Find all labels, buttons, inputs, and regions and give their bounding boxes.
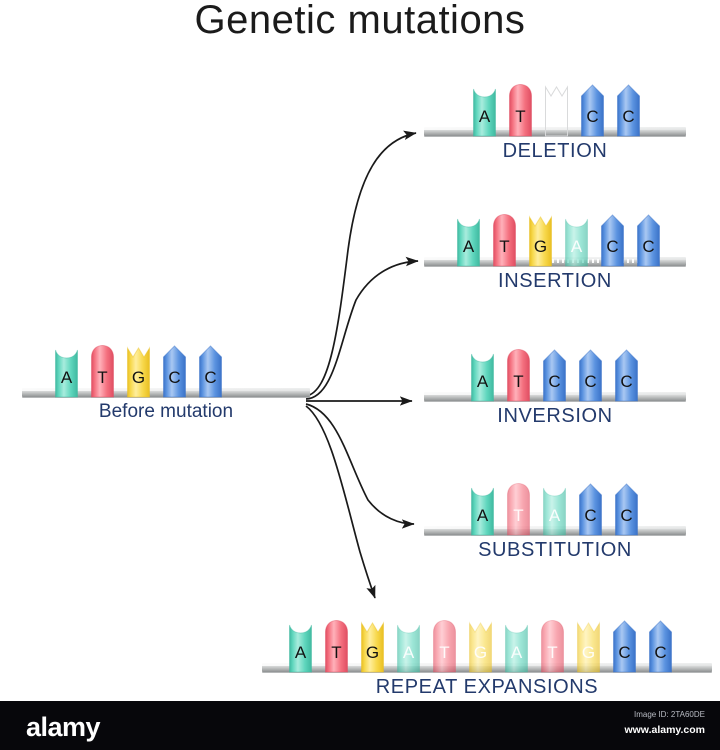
nucleotide-a: A [504, 619, 529, 672]
nucleotide-t: T [506, 348, 531, 401]
nucleotide-g: G [468, 619, 493, 672]
nucleotide-g: G [360, 619, 385, 672]
nucleotide-g: G [126, 344, 151, 397]
page-title: Genetic mutations [0, 0, 720, 43]
nucleotide-a: A [470, 348, 495, 401]
nucleotide-a: A [396, 619, 421, 672]
strand-insertion: ATGACCINSERTION [424, 204, 686, 266]
strand-deletion: ATGCCDELETION [424, 74, 686, 136]
caption-repeat-expansions: REPEAT EXPANSIONS [262, 676, 712, 699]
nucleotide-c: C [636, 213, 661, 266]
nucleotide-a: A [54, 344, 79, 397]
caption-insertion: INSERTION [424, 270, 686, 293]
caption-inversion: INVERSION [424, 405, 686, 428]
strand-inversion: ATCCCINVERSION [424, 339, 686, 401]
nucleotide-c: C [616, 83, 641, 136]
caption-deletion: DELETION [424, 140, 686, 163]
strand-before-mutation: ATGCCBefore mutation [22, 335, 310, 397]
nucleotide-c: C [614, 482, 639, 535]
nucleotide-c: C [198, 344, 223, 397]
nucleotide-g: G [528, 213, 553, 266]
nucleotide-g: G [544, 83, 569, 136]
illustration-canvas: Genetic mutations ATGCCBefore mutationAT… [0, 0, 720, 750]
alamy-logo: alamy [26, 712, 100, 743]
nucleotide-t: T [540, 619, 565, 672]
caption-substitution: SUBSTITUTION [424, 539, 686, 562]
arrow-to-deletion [306, 133, 416, 396]
nucleotide-a: A [470, 482, 495, 535]
nucleotide-c: C [162, 344, 187, 397]
nucleotide-c: C [614, 348, 639, 401]
nucleotide-c: C [542, 348, 567, 401]
alamy-url: www.alamy.com [525, 724, 705, 736]
caption-before-mutation: Before mutation [22, 401, 310, 423]
nucleotide-t: T [324, 619, 349, 672]
image-id-label: Image ID: 2TA60DE [525, 710, 705, 719]
nucleotide-a: A [542, 482, 567, 535]
nucleotide-c: C [580, 83, 605, 136]
nucleotide-a: A [564, 213, 589, 266]
nucleotide-t: T [508, 83, 533, 136]
watermark-bar: alamy Image ID: 2TA60DE www.alamy.com [0, 701, 720, 750]
nucleotide-a: A [472, 83, 497, 136]
nucleotide-t: T [90, 344, 115, 397]
nucleotide-c: C [648, 619, 673, 672]
arrow-to-substitution [306, 404, 414, 524]
nucleotide-t: T [432, 619, 457, 672]
strand-substitution: ATACCSUBSTITUTION [424, 473, 686, 535]
strand-repeat-expansions: ATGATGATGCCREPEAT EXPANSIONS [262, 610, 712, 672]
arrow-to-insertion [306, 261, 418, 399]
nucleotide-c: C [600, 213, 625, 266]
arrow-to-repeat [306, 406, 375, 598]
nucleotide-c: C [612, 619, 637, 672]
nucleotide-c: C [578, 482, 603, 535]
nucleotide-a: A [288, 619, 313, 672]
nucleotide-a: A [456, 213, 481, 266]
nucleotide-t: T [506, 482, 531, 535]
nucleotide-t: T [492, 213, 517, 266]
nucleotide-c: C [578, 348, 603, 401]
nucleotide-g: G [576, 619, 601, 672]
